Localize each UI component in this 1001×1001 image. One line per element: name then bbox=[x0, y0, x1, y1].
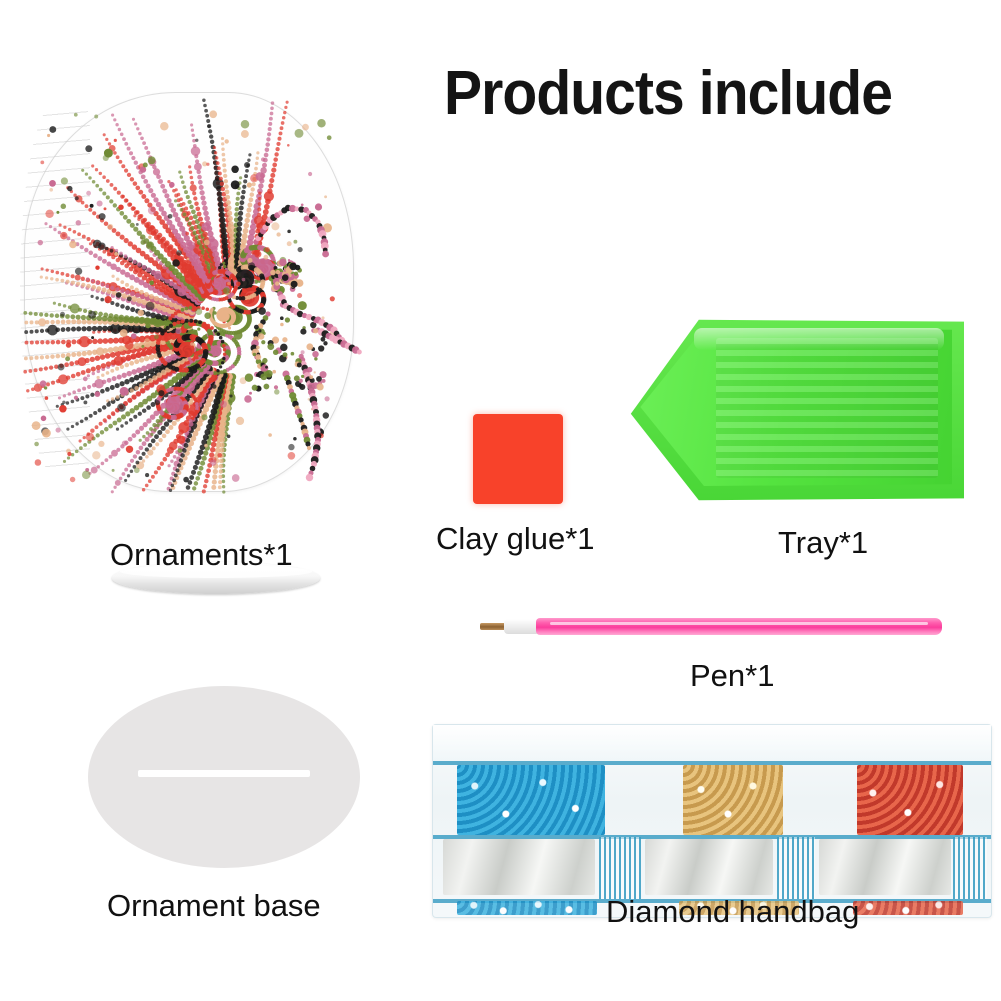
tray-label: Tray*1 bbox=[778, 525, 868, 561]
pen-image bbox=[480, 614, 942, 640]
bag-sheen bbox=[433, 725, 991, 761]
clay-glue-label: Clay glue*1 bbox=[436, 521, 595, 557]
dancer-dot-art-icon bbox=[18, 92, 368, 497]
diamond-handbag-label: Diamond handbag bbox=[606, 894, 859, 930]
pen-ferrule bbox=[504, 619, 540, 634]
foil-label-1 bbox=[443, 839, 595, 895]
rhinestones-blue-spill bbox=[457, 901, 597, 915]
rhinestones-red bbox=[857, 765, 963, 835]
ornament-base-slot bbox=[138, 770, 310, 777]
pen-highlight bbox=[550, 622, 928, 625]
rhinestones-red-spill bbox=[853, 901, 963, 915]
pen-metal-tip bbox=[480, 623, 506, 630]
bag-seam-3 bbox=[953, 837, 987, 899]
ornaments-label: Ornaments*1 bbox=[110, 537, 293, 573]
tray-highlight bbox=[694, 328, 944, 350]
tray-grooves bbox=[716, 338, 938, 478]
rhinestones-blue bbox=[457, 765, 605, 835]
rhinestones-gold bbox=[683, 765, 783, 835]
tray-image bbox=[624, 316, 964, 504]
foil-label-2 bbox=[645, 839, 773, 895]
ornament-base-label: Ornament base bbox=[107, 888, 321, 924]
page-title: Products include bbox=[444, 58, 892, 129]
bag-seam-2 bbox=[777, 837, 815, 899]
diamond-handbag-image bbox=[432, 724, 992, 918]
foil-label-3 bbox=[819, 839, 951, 895]
ornament-base-image bbox=[88, 686, 360, 868]
clay-glue-image bbox=[473, 414, 563, 504]
product-include-infographic: Products include Ornaments*1 Clay glue*1 bbox=[0, 0, 1001, 1001]
ornament-image bbox=[18, 92, 368, 512]
bag-seam-1 bbox=[599, 837, 641, 899]
pen-barrel bbox=[536, 618, 942, 635]
pen-label: Pen*1 bbox=[690, 658, 774, 694]
